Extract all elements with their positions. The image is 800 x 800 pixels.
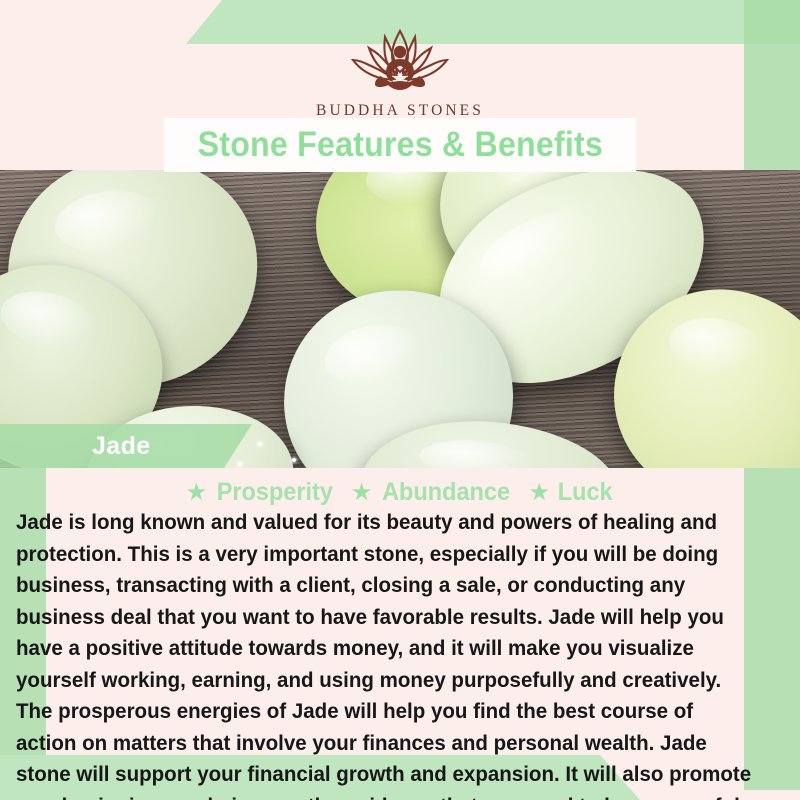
title-banner: Stone Features & Benefits [164, 118, 636, 172]
brand-logo: BUDDHA STONES [0, 24, 800, 120]
star-icon: ★ [528, 481, 550, 505]
sparkle [238, 462, 242, 466]
description-block: Jade is long known and valued for its be… [16, 506, 792, 800]
benefit-label: Abundance [382, 478, 510, 507]
benefit-abundance: ★ Abundance [351, 478, 515, 507]
star-icon: ★ [351, 481, 373, 505]
lotus-meditation-icon [325, 24, 475, 98]
description-text: Jade is long known and valued for its be… [16, 506, 753, 800]
sparkle [258, 442, 262, 446]
sparkle [292, 458, 296, 462]
benefit-luck: ★ Luck [528, 478, 614, 507]
jade-stones-photo [0, 170, 800, 468]
stone-info-card: BUDDHA STONES Stone Features & Benefits … [0, 0, 800, 800]
stone-name-label: Jade [92, 432, 151, 461]
benefit-prosperity: ★ Prosperity [186, 478, 337, 507]
benefit-label: Prosperity [217, 478, 333, 507]
page-title: Stone Features & Benefits [197, 125, 602, 165]
benefit-label: Luck [558, 478, 613, 507]
star-icon: ★ [186, 481, 208, 505]
benefits-row: ★ Prosperity ★ Abundance ★ Luck [0, 478, 800, 507]
stone-name-bar: Jade [0, 424, 252, 468]
